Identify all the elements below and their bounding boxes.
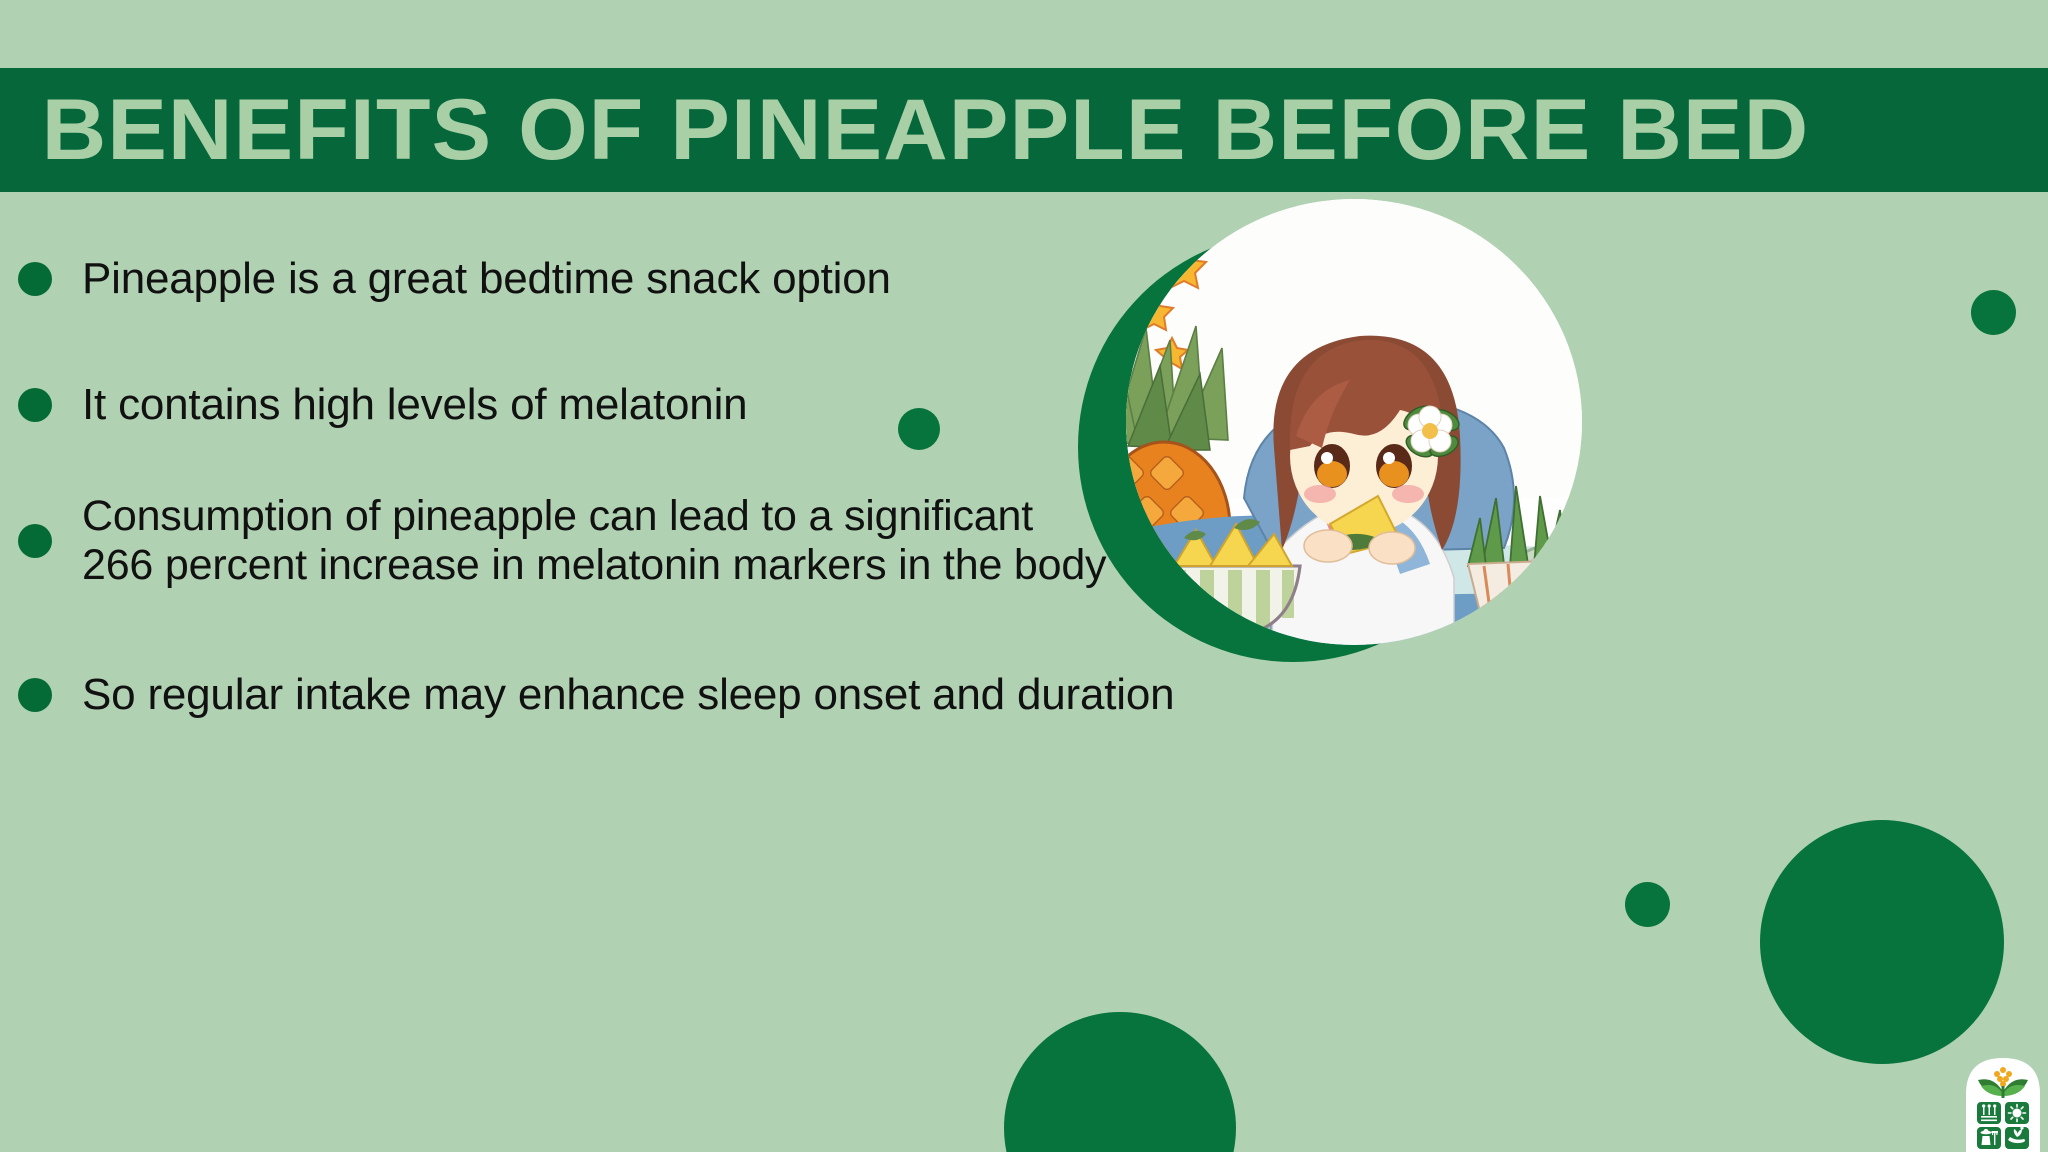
bullet-dot-icon <box>18 388 52 422</box>
list-item: It contains high levels of melatonin <box>18 380 747 430</box>
decorative-circle-bottom-right <box>1760 820 2004 1064</box>
decorative-circle-small-top-right <box>1971 290 2016 335</box>
list-item: So regular intake may enhance sleep onse… <box>18 670 1174 720</box>
sun-icon <box>2009 1105 2026 1122</box>
slide-canvas: BENEFITS OF PINEAPPLE BEFORE BED Pineapp… <box>0 0 2048 1152</box>
list-item: Pineapple is a great bedtime snack optio… <box>18 254 891 304</box>
hand-seedling-icon-tile <box>2005 1127 2029 1149</box>
brand-logo <box>1960 1052 2046 1152</box>
page-title: BENEFITS OF PINEAPPLE BEFORE BED <box>0 81 1809 180</box>
bullet-dot-icon <box>18 524 52 558</box>
decorative-circle-small-bottom-right <box>1625 882 1670 927</box>
farmer-icon <box>1981 1129 1999 1145</box>
decorative-circle-bottom-center <box>1004 1012 1236 1152</box>
list-item-label: It contains high levels of melatonin <box>82 380 747 430</box>
list-item-label: Pineapple is a great bedtime snack optio… <box>82 254 891 304</box>
list-item-label: Consumption of pineapple can lead to a s… <box>82 492 1106 590</box>
illustration-girl-eating-pineapple <box>1124 198 1584 646</box>
list-item: Consumption of pineapple can lead to a s… <box>18 492 1106 590</box>
list-item-label: So regular intake may enhance sleep onse… <box>82 670 1174 720</box>
bullet-dot-icon <box>18 262 52 296</box>
title-banner: BENEFITS OF PINEAPPLE BEFORE BED <box>0 68 2048 192</box>
decorative-circle-small-middle <box>898 408 940 450</box>
bullet-dot-icon <box>18 678 52 712</box>
anime-girl <box>1272 336 1462 646</box>
